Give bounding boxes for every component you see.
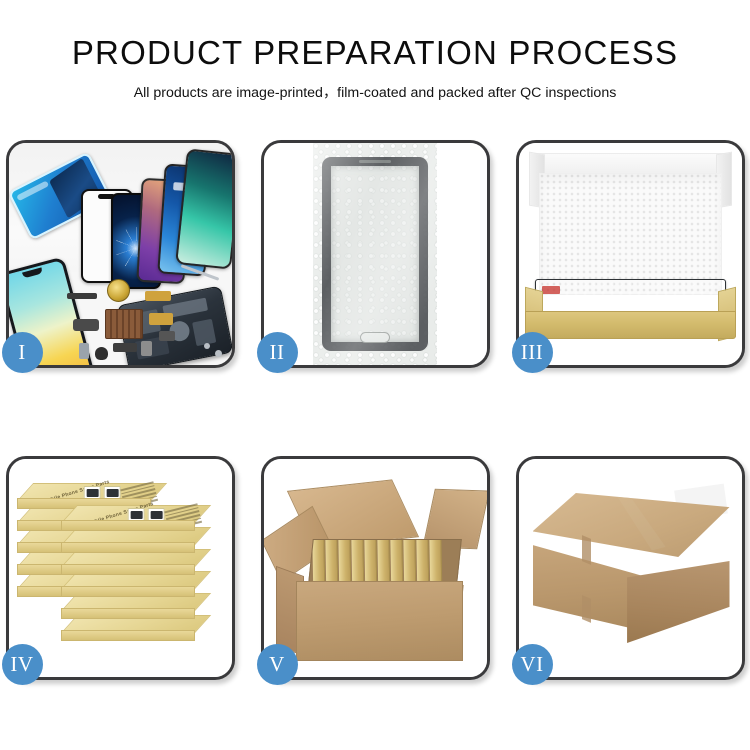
box-side-face	[61, 630, 195, 641]
flex-cable-part-icon	[73, 319, 99, 331]
bubble-wrapped-screen-image	[264, 143, 487, 365]
product-preparation-infographic: PRODUCT PREPARATION PROCESS All products…	[0, 0, 750, 750]
step-badge-1: I	[2, 332, 43, 373]
sealed-shipping-carton-image	[519, 459, 742, 677]
screw-part-icon	[215, 350, 222, 357]
flex-cable-part-icon	[149, 313, 173, 325]
step-badge-2: II	[257, 332, 298, 373]
carton-front-face	[296, 581, 463, 661]
carton-seam	[582, 595, 591, 623]
photo-area	[313, 143, 437, 365]
photo-area	[525, 153, 736, 339]
box-side-face	[61, 542, 195, 553]
phone-parts-assortment-image	[9, 143, 232, 365]
open-carton-with-boxes-image	[264, 459, 487, 677]
box-side-face	[61, 586, 195, 597]
page-subtitle: All products are image-printed，film-coat…	[0, 82, 750, 102]
small-part-icon	[95, 347, 108, 360]
process-step-panel-6: VI	[516, 456, 745, 680]
carton-right-face	[627, 561, 729, 643]
process-step-grid: I II	[0, 140, 750, 700]
connector-part-icon	[113, 343, 137, 352]
box-front-wall-icon	[525, 311, 736, 339]
speaker-part-icon	[67, 293, 97, 299]
step-badge-5: V	[257, 644, 298, 685]
gold-coil-part-icon	[107, 279, 130, 302]
box-side-face	[61, 564, 195, 575]
screen-in-foam-box-image	[519, 143, 742, 365]
film-highlight	[313, 143, 437, 365]
foam-lining-icon	[539, 173, 722, 295]
step-badge-3: III	[512, 332, 553, 373]
process-step-panel-1: I	[6, 140, 235, 368]
photo-area	[276, 481, 477, 661]
screw-part-icon	[204, 343, 210, 349]
step-badge-6: VI	[512, 644, 553, 685]
box-side-face	[61, 608, 195, 619]
page-title: PRODUCT PREPARATION PROCESS	[0, 36, 750, 71]
process-step-panel-2: II	[261, 140, 490, 368]
small-part-icon	[159, 331, 175, 341]
box-lid-back-icon	[535, 153, 726, 175]
step-badge-4: IV	[2, 644, 43, 685]
process-step-panel-4: Mobile Phone Spare Parts	[6, 456, 235, 680]
photo-area	[533, 493, 730, 647]
small-part-icon	[141, 341, 152, 356]
process-step-panel-3: III	[516, 140, 745, 368]
box-side-face	[61, 520, 195, 531]
carton-seam	[582, 535, 591, 565]
chip-array-part-icon	[105, 309, 143, 339]
stacked-retail-boxes-image: Mobile Phone Spare Parts	[9, 459, 232, 677]
retail-box-top: Mobile Phone Spare Parts	[61, 505, 193, 527]
flex-cable-part-icon	[145, 291, 171, 301]
header: PRODUCT PREPARATION PROCESS All products…	[0, 0, 750, 102]
process-step-panel-5: V	[261, 456, 490, 680]
retail-box-top: Mobile Phone Spare Parts	[17, 483, 149, 505]
small-part-icon	[79, 343, 89, 359]
